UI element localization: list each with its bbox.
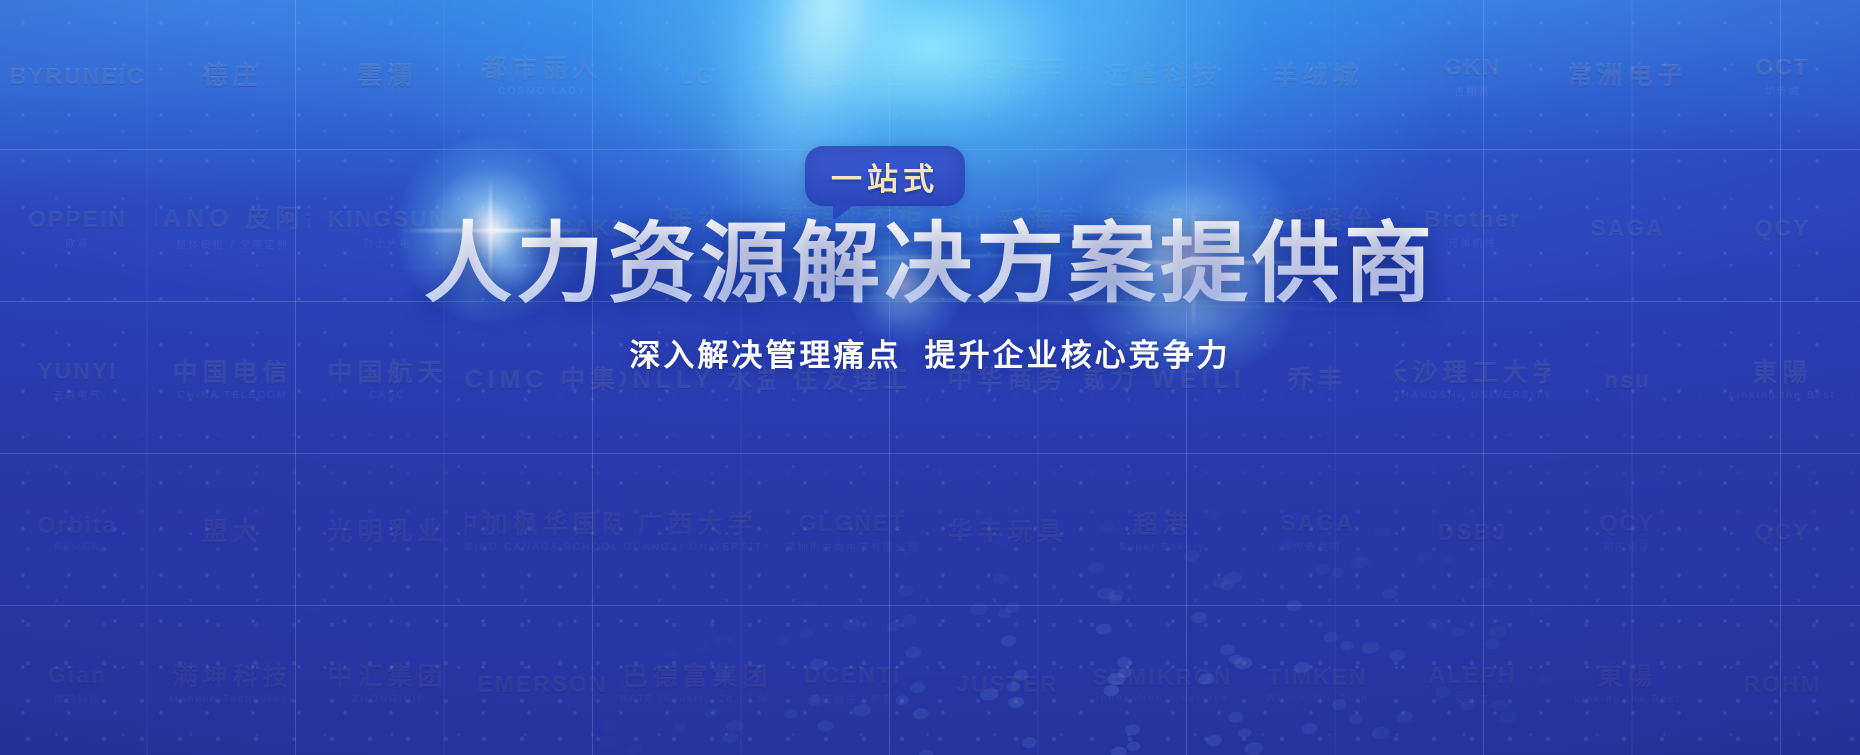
page-subtitle: 深入解决管理痛点 提升企业核心竞争力 [629,330,1230,375]
hero-banner: BYRUNEIC德庄雲瀾都市丽人COSMO LADYLG鸿图集团大运汽车DAYU… [0,0,1860,755]
page-title: 人力资源解决方案提供商 [424,212,1436,316]
one-stop-badge: 一站式 [805,146,965,206]
badge-wrapper: 一站式 [805,146,965,206]
hero-content: 一站式 人力资源解决方案提供商 深入解决管理痛点 提升企业核心竞争力 [0,0,1860,375]
badge-label: 一站式 [831,154,939,199]
